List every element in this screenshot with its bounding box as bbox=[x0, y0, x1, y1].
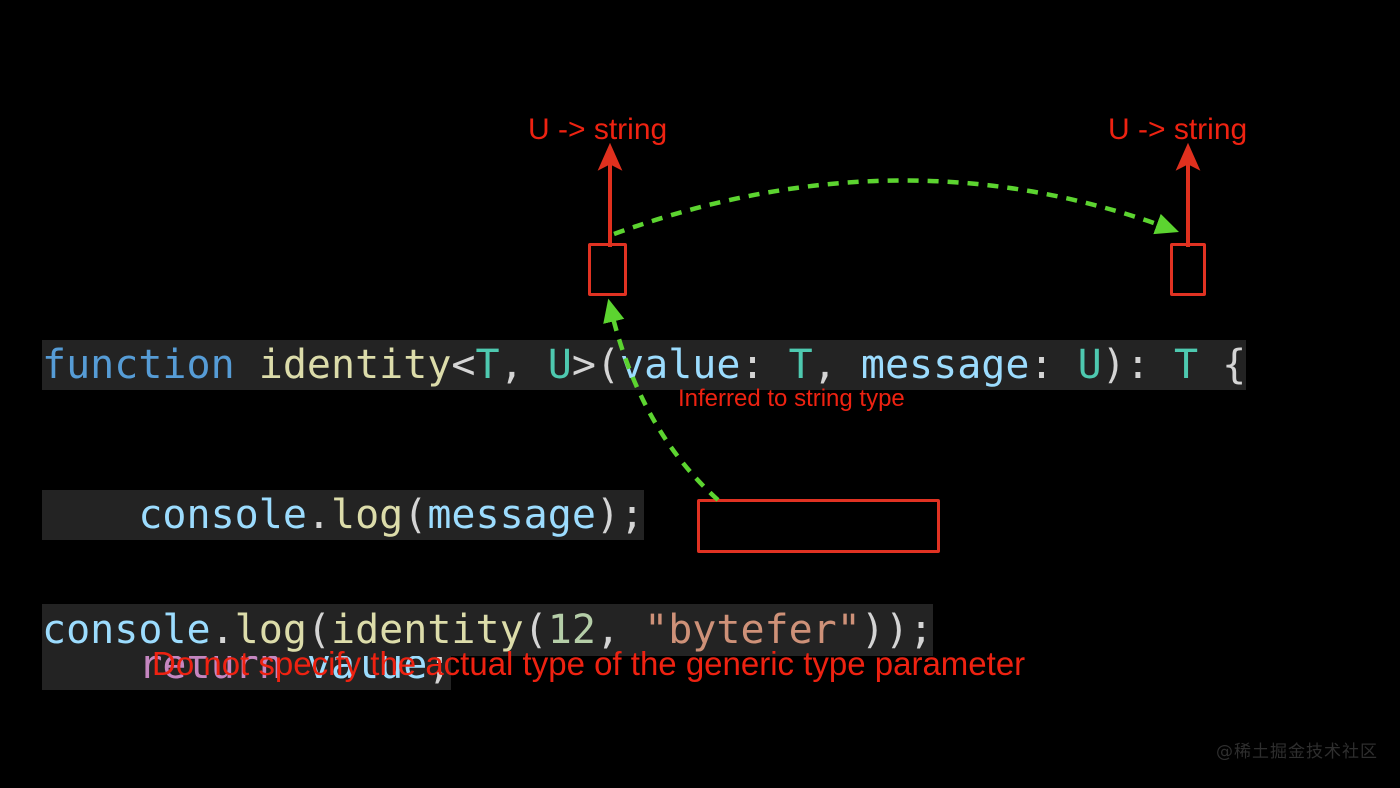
code-token: value bbox=[620, 342, 740, 388]
code-token: function bbox=[42, 342, 235, 388]
code-token: message bbox=[861, 342, 1030, 388]
code-token: : bbox=[1029, 342, 1077, 388]
code-token: identity bbox=[259, 342, 452, 388]
watermark-text: @稀土掘金技术社区 bbox=[1216, 737, 1378, 762]
code-token: ): bbox=[1102, 342, 1174, 388]
annotation-u-to-string-left: U -> string bbox=[528, 113, 667, 147]
code-token: : bbox=[740, 342, 788, 388]
code-token bbox=[235, 342, 259, 388]
highlight-box-generic-param-u-declaration bbox=[588, 243, 627, 296]
code-token: T bbox=[476, 342, 500, 388]
highlight-box-string-argument bbox=[697, 499, 940, 553]
slide-canvas: function identity<T, U>(value: T, messag… bbox=[0, 0, 1400, 788]
code-token: < bbox=[451, 342, 475, 388]
green-dashed-arc-u-to-u bbox=[614, 180, 1168, 234]
code-line-fn-signature: function identity<T, U>(value: T, messag… bbox=[42, 340, 1246, 390]
code-token: T bbox=[1174, 342, 1198, 388]
annotation-inferred-to-string-type: Inferred to string type bbox=[678, 385, 905, 413]
code-token: { bbox=[1198, 342, 1246, 388]
annotation-u-to-string-right: U -> string bbox=[1108, 113, 1247, 147]
code-token: , bbox=[500, 342, 548, 388]
highlight-box-generic-param-u-usage bbox=[1170, 243, 1206, 296]
code-token: >( bbox=[572, 342, 620, 388]
code-token: T bbox=[789, 342, 813, 388]
code-token: , bbox=[813, 342, 861, 388]
code-token: U bbox=[1078, 342, 1102, 388]
annotation-bottom-caption: Do not specify the actual type of the ge… bbox=[152, 645, 1025, 683]
code-token: U bbox=[548, 342, 572, 388]
